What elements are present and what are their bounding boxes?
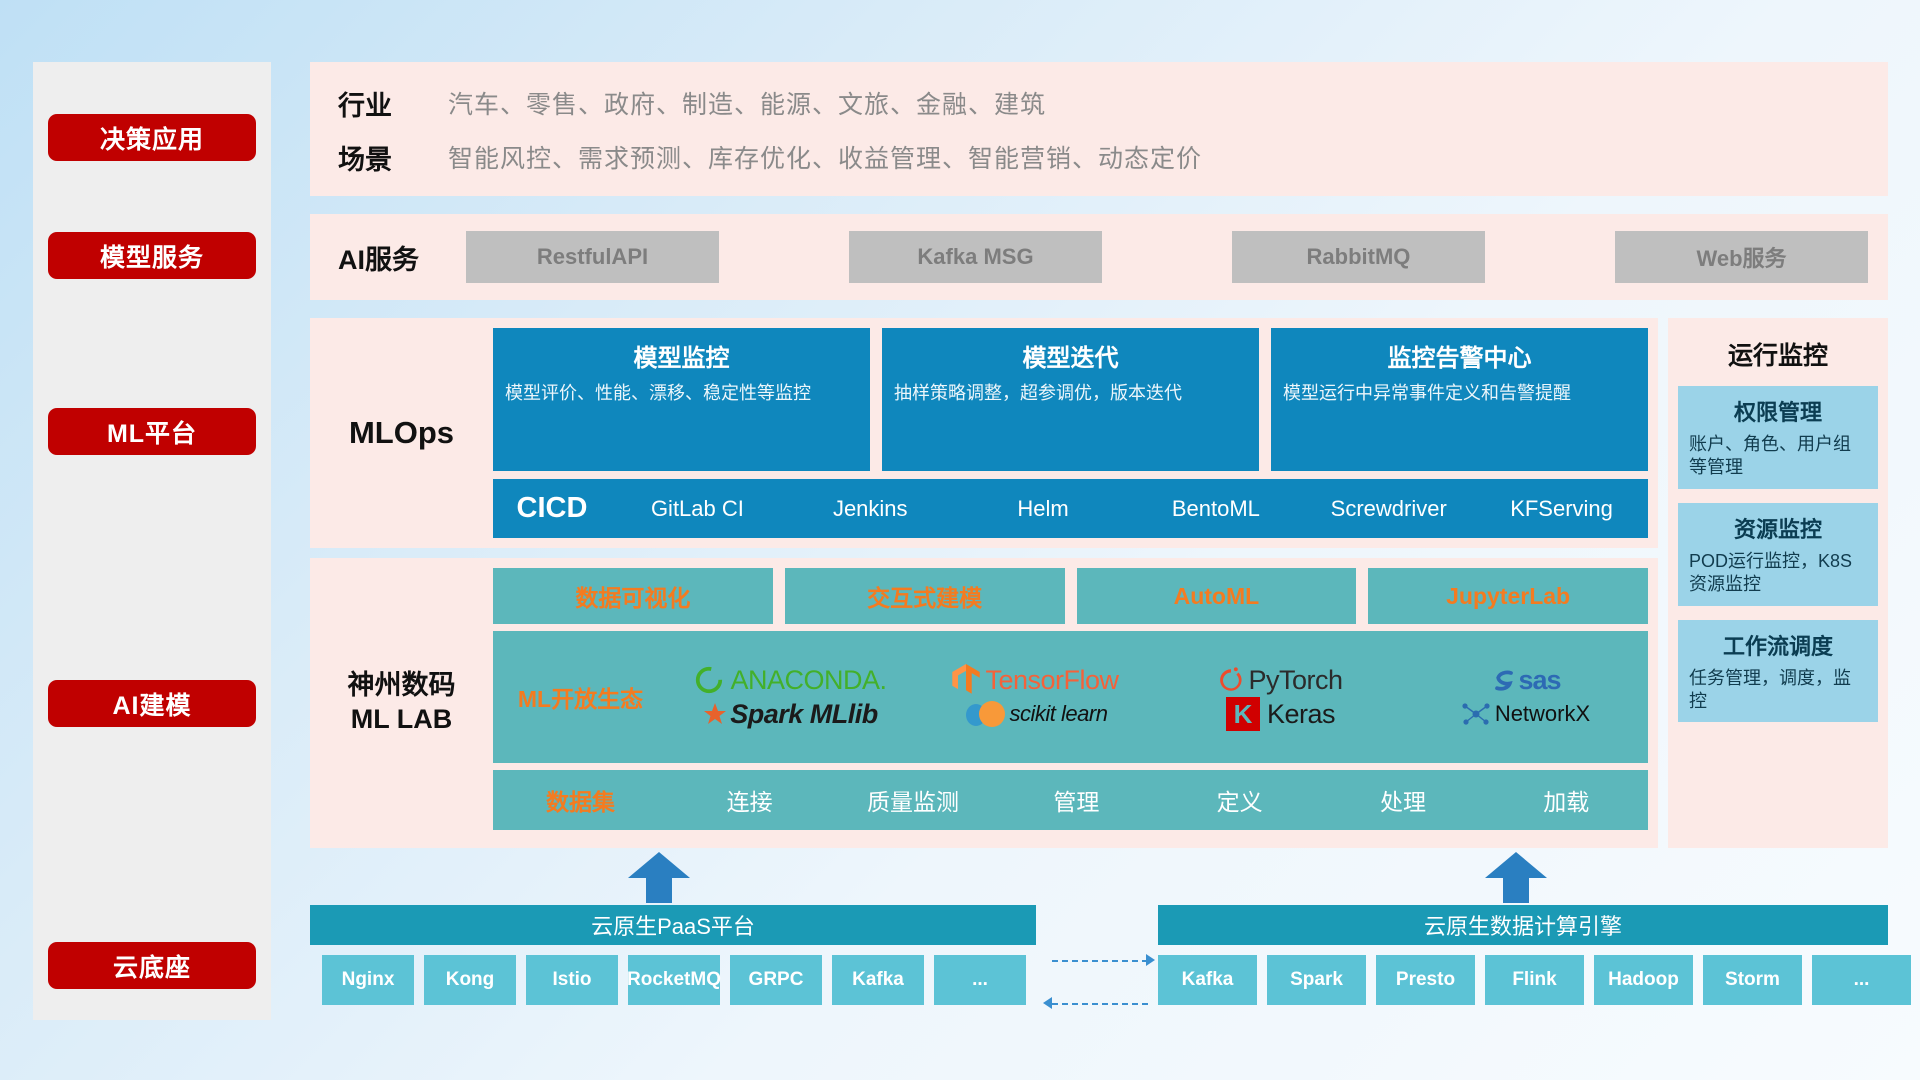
card-title: 监控告警中心 <box>1283 338 1636 373</box>
card-desc: 模型运行中异常事件定义和告警提醒 <box>1283 381 1636 405</box>
sas-wordmark: sas <box>1518 665 1560 696</box>
mlops-card-model-iteration[interactable]: 模型迭代 抽样策略调整，超参调优，版本迭代 <box>882 328 1259 471</box>
spark-star-icon <box>703 702 727 726</box>
card-title: 模型迭代 <box>894 338 1247 373</box>
scikit-learn-icon <box>964 699 1008 729</box>
card-desc: 账户、角色、用户组等管理 <box>1689 433 1867 480</box>
engine-tag-kafka[interactable]: Kafka <box>1158 955 1257 1005</box>
ml-lab-line2: ML LAB <box>351 703 453 737</box>
engine-tag-storm[interactable]: Storm <box>1703 955 1802 1005</box>
dataset-row: 数据集 连接 质量监测 管理 定义 处理 加载 <box>493 770 1648 830</box>
mlops-label: MLOps <box>310 318 493 548</box>
architecture-diagram: 决策应用 模型服务 ML平台 AI建模 云底座 行业 汽车、零售、政府、制造、能… <box>0 0 1920 1080</box>
spark-mllib-wordmark: Spark MLlib <box>730 699 878 730</box>
stage-chip-label: 云底座 <box>113 948 191 984</box>
card-title: 模型监控 <box>505 338 858 373</box>
engine-tag-flink[interactable]: Flink <box>1485 955 1584 1005</box>
industry-label: 行业 <box>338 84 448 123</box>
monitor-card-permissions[interactable]: 权限管理 账户、角色、用户组等管理 <box>1678 386 1878 489</box>
paas-tag-istio[interactable]: Istio <box>526 955 618 1005</box>
cicd-label: CICD <box>493 492 611 525</box>
service-box-rabbitmq[interactable]: RabbitMQ <box>1232 231 1485 283</box>
ml-ecosystem-logo-grid: ANACONDA. TensorFlow <box>668 663 1648 731</box>
tool-box-jupyterlab[interactable]: JupyterLab <box>1368 568 1648 624</box>
dataset-label: 数据集 <box>493 783 668 817</box>
paas-tag-kong[interactable]: Kong <box>424 955 516 1005</box>
pytorch-icon <box>1218 665 1244 695</box>
industry-values: 汽车、零售、政府、制造、能源、文旅、金融、建筑 <box>448 85 1046 121</box>
data-engine-tag-group: Kafka Spark Presto Flink Hadoop Storm ..… <box>1158 955 1911 1005</box>
anaconda-logo: ANACONDA. <box>668 663 913 697</box>
dataset-item-definition[interactable]: 定义 <box>1158 783 1321 817</box>
mlops-card-group: 模型监控 模型评价、性能、漂移、稳定性等监控 模型迭代 抽样策略调整，超参调优，… <box>493 328 1648 471</box>
ml-lab-line1: 神州数码 <box>348 669 456 703</box>
mlops-card-alert-center[interactable]: 监控告警中心 模型运行中异常事件定义和告警提醒 <box>1271 328 1648 471</box>
monitor-card-workflow-scheduling[interactable]: 工作流调度 任务管理，调度，监控 <box>1678 620 1878 723</box>
stage-chip-label: 模型服务 <box>100 238 204 274</box>
tensorflow-logo: TensorFlow <box>913 663 1158 697</box>
tensorflow-icon <box>952 664 980 696</box>
stage-chip-cloud-base[interactable]: 云底座 <box>48 942 256 989</box>
ml-lab-label: 神州数码 ML LAB <box>310 558 493 848</box>
tool-box-interactive-modeling[interactable]: 交互式建模 <box>785 568 1065 624</box>
ml-ecosystem-row: ML开放生态 ANACONDA. TensorFlow <box>493 631 1648 763</box>
paas-tag-rocketmq[interactable]: RocketMQ <box>628 955 720 1005</box>
tool-box-automl[interactable]: AutoML <box>1077 568 1357 624</box>
stage-chip-label: AI建模 <box>112 686 191 722</box>
pytorch-logo: PyTorch <box>1158 663 1403 697</box>
card-title: 工作流调度 <box>1689 629 1867 661</box>
dataset-item-group: 连接 质量监测 管理 定义 处理 加载 <box>668 783 1648 817</box>
runtime-monitoring-panel: 运行监控 权限管理 账户、角色、用户组等管理 资源监控 POD运行监控，K8S资… <box>1668 318 1888 848</box>
dataset-item-processing[interactable]: 处理 <box>1321 783 1484 817</box>
tool-box-data-visualization[interactable]: 数据可视化 <box>493 568 773 624</box>
card-title: 权限管理 <box>1689 395 1867 427</box>
keras-k-icon: K <box>1226 697 1260 731</box>
engine-tag-spark[interactable]: Spark <box>1267 955 1366 1005</box>
paas-tag-more[interactable]: ... <box>934 955 1026 1005</box>
runtime-monitoring-title: 运行监控 <box>1678 336 1878 372</box>
cicd-item-jenkins[interactable]: Jenkins <box>784 497 957 520</box>
pytorch-wordmark: PyTorch <box>1248 665 1342 696</box>
card-title: 资源监控 <box>1689 512 1867 544</box>
networkx-logo: NetworkX <box>1403 697 1648 731</box>
mlops-panel: MLOps 模型监控 模型评价、性能、漂移、稳定性等监控 模型迭代 抽样策略调整… <box>310 318 1658 548</box>
card-desc: 任务管理，调度，监控 <box>1689 667 1867 714</box>
dataset-item-management[interactable]: 管理 <box>995 783 1158 817</box>
networkx-wordmark: NetworkX <box>1495 701 1590 727</box>
anaconda-icon <box>694 665 724 695</box>
cicd-item-gitlab-ci[interactable]: GitLab CI <box>611 497 784 520</box>
service-box-kafka-msg[interactable]: Kafka MSG <box>849 231 1102 283</box>
keras-logo: K Keras <box>1158 697 1403 731</box>
cicd-bar: CICD GitLab CI Jenkins Helm BentoML Scre… <box>493 479 1648 538</box>
mlops-card-model-monitoring[interactable]: 模型监控 模型评价、性能、漂移、稳定性等监控 <box>493 328 870 471</box>
spark-mllib-logo: Spark MLlib <box>668 697 913 731</box>
ai-modeling-panel: 神州数码 ML LAB 数据可视化 交互式建模 AutoML JupyterLa… <box>310 558 1658 848</box>
paas-platform-bar[interactable]: 云原生PaaS平台 <box>310 905 1036 945</box>
tool-box-group: 数据可视化 交互式建模 AutoML JupyterLab <box>493 568 1648 624</box>
paas-tag-group: Nginx Kong Istio RocketMQ GRPC Kafka ... <box>322 955 1026 1005</box>
data-compute-engine-bar[interactable]: 云原生数据计算引擎 <box>1158 905 1888 945</box>
dataset-item-connect[interactable]: 连接 <box>668 783 831 817</box>
cicd-item-group: GitLab CI Jenkins Helm BentoML Screwdriv… <box>611 497 1648 520</box>
stage-chip-model-service[interactable]: 模型服务 <box>48 232 256 279</box>
scikit-learn-logo: scikit learn <box>913 697 1158 731</box>
scenario-row: 场景 智能风控、需求预测、库存优化、收益管理、智能营销、动态定价 <box>338 130 1888 184</box>
stage-chip-ai-modeling[interactable]: AI建模 <box>48 680 256 727</box>
paas-tag-kafka[interactable]: Kafka <box>832 955 924 1005</box>
decision-apps-panel: 行业 汽车、零售、政府、制造、能源、文旅、金融、建筑 场景 智能风控、需求预测、… <box>310 62 1888 196</box>
stage-rail <box>33 62 271 1020</box>
stage-chip-decision-apps[interactable]: 决策应用 <box>48 114 256 161</box>
engine-tag-hadoop[interactable]: Hadoop <box>1594 955 1693 1005</box>
service-box-web-service[interactable]: Web服务 <box>1615 231 1868 283</box>
ai-service-label: AI服务 <box>338 238 466 277</box>
engine-tag-presto[interactable]: Presto <box>1376 955 1475 1005</box>
dataset-item-loading[interactable]: 加载 <box>1485 783 1648 817</box>
scenario-values: 智能风控、需求预测、库存优化、收益管理、智能营销、动态定价 <box>448 139 1202 175</box>
mlops-content: 模型监控 模型评价、性能、漂移、稳定性等监控 模型迭代 抽样策略调整，超参调优，… <box>493 318 1658 548</box>
sas-logo: sas <box>1403 663 1648 697</box>
paas-tag-nginx[interactable]: Nginx <box>322 955 414 1005</box>
scikit-learn-wordmark: scikit learn <box>1010 701 1108 727</box>
cicd-item-helm[interactable]: Helm <box>957 497 1130 520</box>
card-desc: 抽样策略调整，超参调优，版本迭代 <box>894 381 1247 405</box>
dataset-item-quality-monitoring[interactable]: 质量监测 <box>831 783 994 817</box>
anaconda-wordmark: ANACONDA. <box>730 665 886 696</box>
modeling-content: 数据可视化 交互式建模 AutoML JupyterLab ML开放生态 ANA… <box>493 558 1658 848</box>
tensorflow-wordmark: TensorFlow <box>985 665 1118 696</box>
stage-chip-label: ML平台 <box>107 414 197 450</box>
keras-wordmark: Keras <box>1267 699 1335 730</box>
service-box-restfulapi[interactable]: RestfulAPI <box>466 231 719 283</box>
ai-service-panel: AI服务 RestfulAPI Kafka MSG RabbitMQ Web服务 <box>310 214 1888 300</box>
stage-chip-label: 决策应用 <box>100 120 204 156</box>
monitor-card-resources[interactable]: 资源监控 POD运行监控，K8S资源监控 <box>1678 503 1878 606</box>
industry-row: 行业 汽车、零售、政府、制造、能源、文旅、金融、建筑 <box>338 76 1888 130</box>
card-desc: POD运行监控，K8S资源监控 <box>1689 550 1867 597</box>
cicd-item-kfserving[interactable]: KFServing <box>1475 497 1648 520</box>
engine-tag-more[interactable]: ... <box>1812 955 1911 1005</box>
scenario-label: 场景 <box>338 138 448 177</box>
stage-chip-ml-platform[interactable]: ML平台 <box>48 408 256 455</box>
paas-tag-grpc[interactable]: GRPC <box>730 955 822 1005</box>
networkx-graph-icon <box>1461 700 1491 728</box>
ai-service-box-group: RestfulAPI Kafka MSG RabbitMQ Web服务 <box>466 231 1888 283</box>
cicd-item-bentoml[interactable]: BentoML <box>1129 497 1302 520</box>
sas-icon <box>1490 666 1518 694</box>
card-desc: 模型评价、性能、漂移、稳定性等监控 <box>505 381 858 405</box>
cicd-item-screwdriver[interactable]: Screwdriver <box>1302 497 1475 520</box>
ml-ecosystem-label: ML开放生态 <box>493 680 668 714</box>
